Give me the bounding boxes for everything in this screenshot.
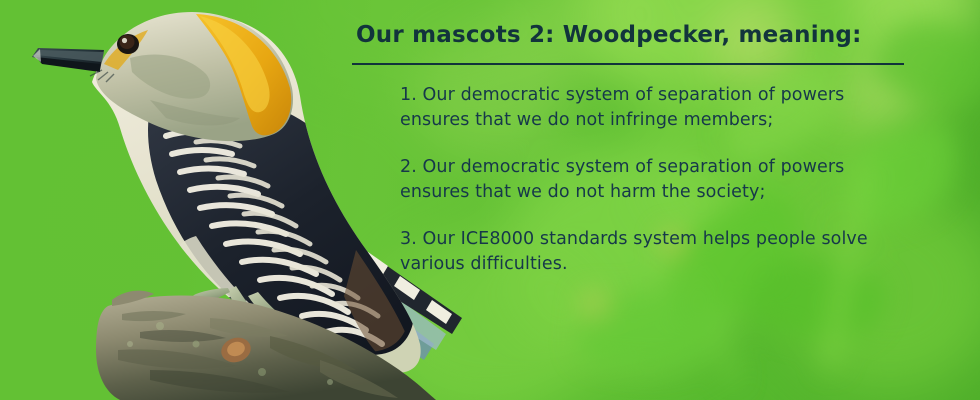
list-item: 2. Our democratic system of separation o… (400, 155, 912, 205)
list-item: 1. Our democratic system of separation o… (400, 83, 912, 133)
mascot-banner: Our mascots 2: Woodpecker, meaning: 1. O… (0, 0, 980, 400)
meaning-list: 1. Our democratic system of separation o… (400, 83, 912, 277)
text-column: Our mascots 2: Woodpecker, meaning: 1. O… (352, 22, 912, 277)
list-item: 3. Our ICE8000 standards system helps pe… (400, 227, 912, 277)
title-divider (352, 63, 904, 65)
banner-title: Our mascots 2: Woodpecker, meaning: (356, 22, 912, 50)
